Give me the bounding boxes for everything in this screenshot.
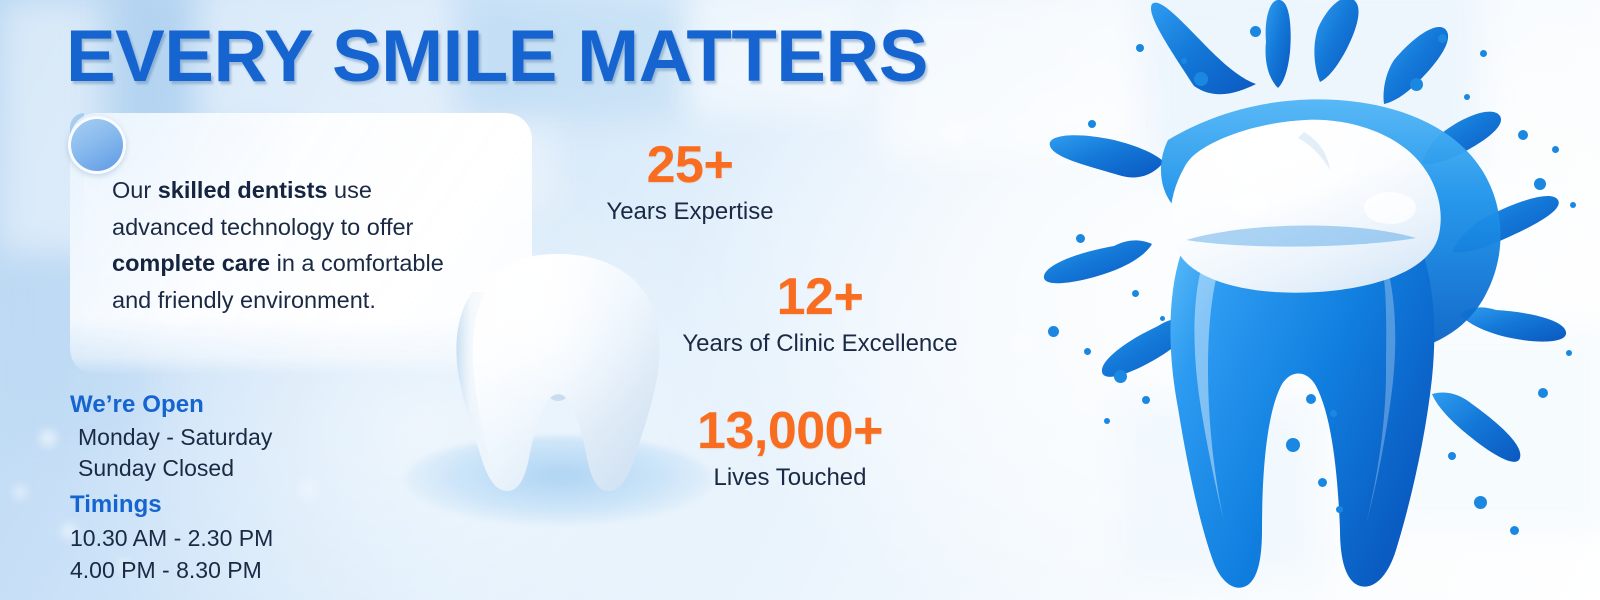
stat-number: 12+ [670, 268, 970, 326]
stat-clinic-excellence: 12+ Years of Clinic Excellence [670, 268, 970, 360]
opening-hours-block: We’re Open Monday - Saturday Sunday Clos… [70, 388, 410, 586]
blue-paint-splash-tooth-icon [1018, 0, 1600, 600]
dental-clinic-banner: EVERY SMILE MATTERS Our skilled dentists… [0, 0, 1600, 600]
were-open-title: We’re Open [70, 388, 410, 422]
info-text-part-1: skilled dentists [158, 177, 328, 203]
white-molar-tooth-icon [424, 248, 692, 510]
info-text-part-3: complete care [112, 250, 270, 276]
info-card-text: Our skilled dentists use advanced techno… [112, 172, 472, 318]
timing-slot-2: 4.00 PM - 8.30 PM [70, 554, 410, 586]
stat-number: 25+ [540, 136, 840, 194]
timings-title: Timings [70, 488, 410, 522]
stat-label: Years Expertise [540, 196, 840, 228]
stat-years-expertise: 25+ Years Expertise [540, 136, 840, 228]
closed-days-line: Sunday Closed [70, 453, 410, 484]
page-title: EVERY SMILE MATTERS [66, 20, 928, 93]
info-text-part-0: Our [112, 177, 158, 203]
stat-label: Years of Clinic Excellence [670, 328, 970, 360]
blue-circle-badge-icon [68, 116, 126, 174]
timing-slot-1: 10.30 AM - 2.30 PM [70, 522, 410, 554]
open-days-line: Monday - Saturday [70, 422, 410, 453]
